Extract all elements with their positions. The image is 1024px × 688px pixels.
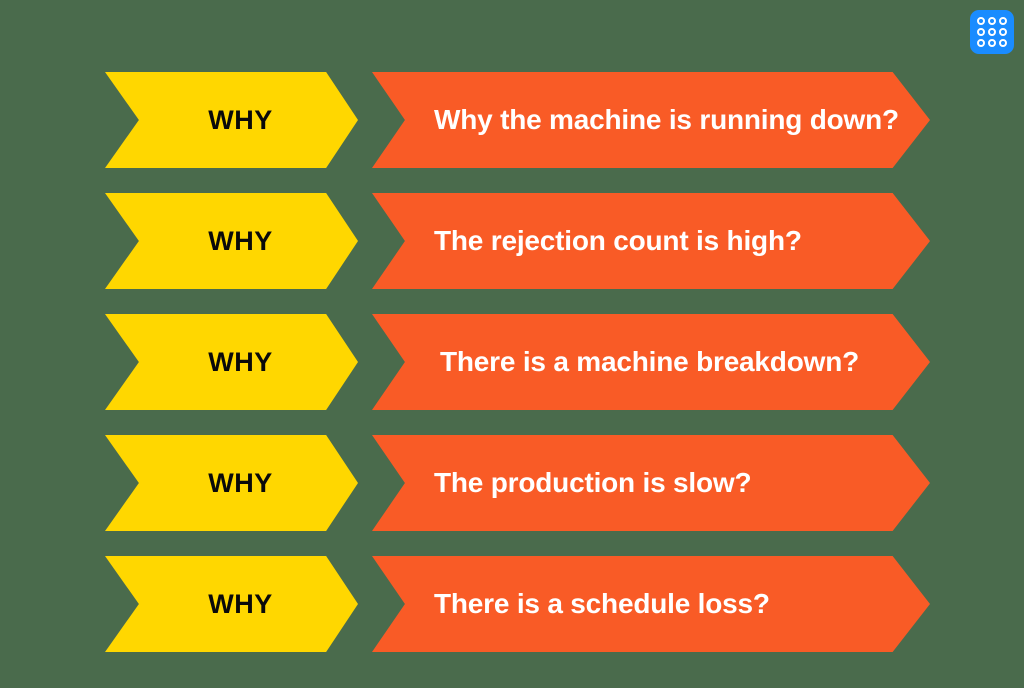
why-row: WHY There is a schedule loss? <box>0 556 1024 652</box>
why-label: WHY <box>190 347 273 378</box>
grid-dot <box>999 28 1007 36</box>
question-label: The rejection count is high? <box>372 225 802 257</box>
why-label: WHY <box>190 105 273 136</box>
grid-dot <box>977 39 985 47</box>
question-banner-3[interactable]: There is a machine breakdown? <box>372 314 930 410</box>
question-label: There is a schedule loss? <box>372 588 770 620</box>
question-label: There is a machine breakdown? <box>372 346 859 378</box>
question-banner-4[interactable]: The production is slow? <box>372 435 930 531</box>
grid-dots-icon[interactable] <box>970 10 1014 54</box>
grid-dot <box>977 28 985 36</box>
five-whys-diagram: WHY Why the machine is running down? WHY… <box>0 72 1024 677</box>
why-row: WHY Why the machine is running down? <box>0 72 1024 168</box>
question-banner-5[interactable]: There is a schedule loss? <box>372 556 930 652</box>
why-label: WHY <box>190 468 273 499</box>
grid-dot <box>999 39 1007 47</box>
grid-dot <box>988 28 996 36</box>
question-label: The production is slow? <box>372 467 751 499</box>
why-row: WHY There is a machine breakdown? <box>0 314 1024 410</box>
question-banner-2[interactable]: The rejection count is high? <box>372 193 930 289</box>
why-label: WHY <box>190 589 273 620</box>
question-banner-1[interactable]: Why the machine is running down? <box>372 72 930 168</box>
why-chevron-5[interactable]: WHY <box>105 556 358 652</box>
why-chevron-3[interactable]: WHY <box>105 314 358 410</box>
grid-dot <box>988 39 996 47</box>
grid-dot <box>977 17 985 25</box>
question-label: Why the machine is running down? <box>372 104 899 136</box>
why-chevron-1[interactable]: WHY <box>105 72 358 168</box>
grid-dot <box>999 17 1007 25</box>
why-chevron-2[interactable]: WHY <box>105 193 358 289</box>
why-row: WHY The rejection count is high? <box>0 193 1024 289</box>
why-row: WHY The production is slow? <box>0 435 1024 531</box>
why-label: WHY <box>190 226 273 257</box>
grid-dot <box>988 17 996 25</box>
why-chevron-4[interactable]: WHY <box>105 435 358 531</box>
